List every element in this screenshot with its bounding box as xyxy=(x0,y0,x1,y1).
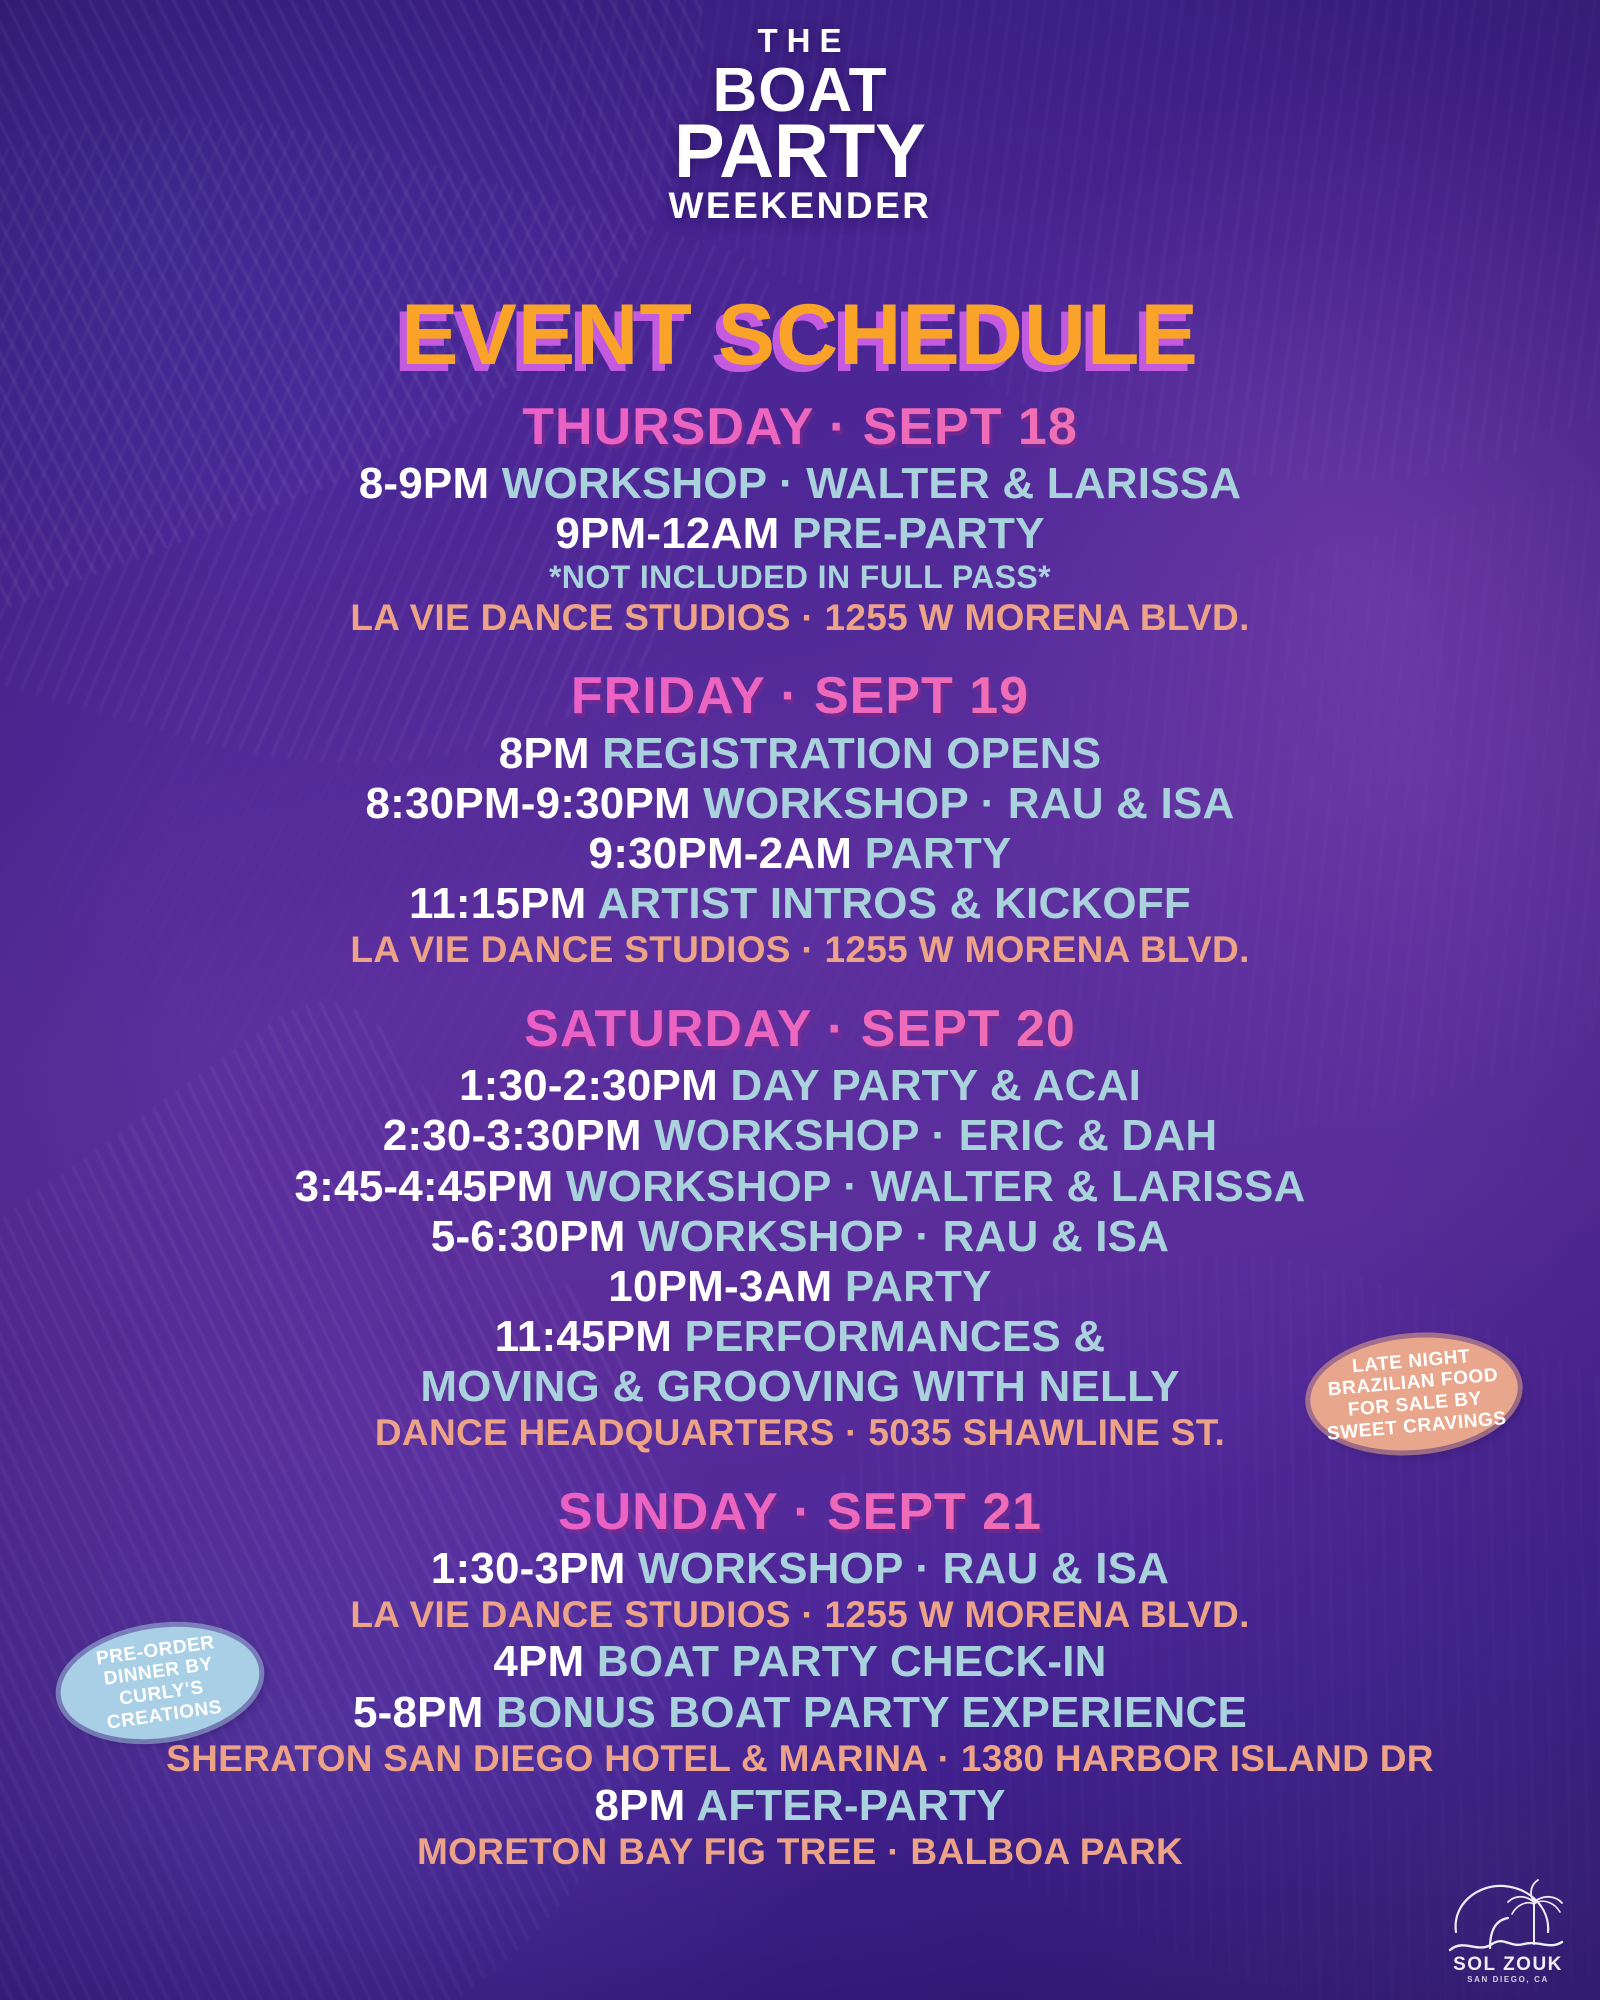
schedule-activity: DAY PARTY & ACAI xyxy=(730,1061,1141,1110)
brand-logo: THE BOAT PARTY WEEKENDER xyxy=(0,24,1600,224)
schedule-line: 1:30-2:30PM DAY PARTY & ACAI xyxy=(0,1061,1600,1111)
day-title-thursday: THURSDAY · SEPT 18 xyxy=(0,400,1600,455)
schedule-time: 1:30-2:30PM xyxy=(459,1061,730,1110)
event-schedule-poster: THE BOAT PARTY WEEKENDER EVENT SCHEDULE … xyxy=(0,0,1600,2000)
schedule-activity: PARTY xyxy=(865,829,1012,878)
schedule-time: 8PM xyxy=(499,729,603,778)
day-block-thursday: THURSDAY · SEPT 18 8-9PM WORKSHOP · WALT… xyxy=(0,400,1600,639)
schedule-line: 2:30-3:30PM WORKSHOP · ERIC & DAH xyxy=(0,1111,1600,1161)
logo-the-text: THE xyxy=(8,24,1600,57)
schedule-time: 9:30PM-2AM xyxy=(589,829,865,878)
sol-zouk-logo-mark: SOL ZOUK SAN DIEGO, CA xyxy=(1438,1870,1578,1988)
schedule-activity: BOAT PARTY CHECK-IN xyxy=(597,1637,1107,1686)
day-block-friday: FRIDAY · SEPT 19 8PM REGISTRATION OPENS … xyxy=(0,669,1600,972)
schedule-activity: WORKSHOP · WALTER & LARISSA xyxy=(502,459,1242,508)
schedule-activity: PERFORMANCES & xyxy=(685,1312,1106,1361)
schedule-activity: PARTY xyxy=(845,1262,992,1311)
schedule-line: 5-6:30PM WORKSHOP · RAU & ISA xyxy=(0,1212,1600,1262)
schedule-time: 5-6:30PM xyxy=(431,1212,638,1261)
schedule-time: 8-9PM xyxy=(359,459,502,508)
day-title-friday: FRIDAY · SEPT 19 xyxy=(0,669,1600,724)
schedule-note: *NOT INCLUDED IN FULL PASS* xyxy=(0,559,1600,596)
logo-weekender-text: WEEKENDER xyxy=(0,187,1600,224)
schedule-activity: REGISTRATION OPENS xyxy=(602,729,1101,778)
schedule-venue: MORETON BAY FIG TREE · BALBOA PARK xyxy=(0,1831,1600,1874)
schedule-time: 3:45-4:45PM xyxy=(295,1162,566,1211)
schedule-activity: WORKSHOP · RAU & ISA xyxy=(703,779,1234,828)
schedule-venue: LA VIE DANCE STUDIOS · 1255 W MORENA BLV… xyxy=(0,929,1600,972)
schedule-line: 11:15PM ARTIST INTROS & KICKOFF xyxy=(0,879,1600,929)
schedule-time: 5-8PM xyxy=(353,1688,496,1737)
schedule-activity: WORKSHOP · WALTER & LARISSA xyxy=(566,1162,1306,1211)
schedule-time: 11:45PM xyxy=(495,1312,685,1361)
schedule-activity: WORKSHOP · RAU & ISA xyxy=(638,1544,1169,1593)
sol-zouk-logo-sub: SAN DIEGO, CA xyxy=(1467,1975,1549,1984)
schedule-activity: WORKSHOP · RAU & ISA xyxy=(638,1212,1169,1261)
schedule-time: 11:15PM xyxy=(409,879,597,928)
sol-zouk-logo: SOL ZOUK SAN DIEGO, CA xyxy=(1438,1870,1578,1988)
schedule-venue: SHERATON SAN DIEGO HOTEL & MARINA · 1380… xyxy=(0,1738,1600,1781)
schedule-activity: PRE-PARTY xyxy=(792,509,1045,558)
schedule-time: 8PM xyxy=(594,1781,696,1830)
schedule-time: 4PM xyxy=(493,1637,597,1686)
schedule-line: 8-9PM WORKSHOP · WALTER & LARISSA xyxy=(0,459,1600,509)
schedule-line: 8:30PM-9:30PM WORKSHOP · RAU & ISA xyxy=(0,779,1600,829)
schedule-activity: MOVING & GROOVING WITH NELLY xyxy=(420,1362,1179,1411)
schedule-time: 1:30-3PM xyxy=(431,1544,638,1593)
schedule-line: 3:45-4:45PM WORKSHOP · WALTER & LARISSA xyxy=(0,1162,1600,1212)
schedule-line: 9PM-12AM PRE-PARTY xyxy=(0,509,1600,559)
schedule-line: 8PM REGISTRATION OPENS xyxy=(0,729,1600,779)
schedule-time: 8:30PM-9:30PM xyxy=(365,779,703,828)
day-title-sunday: SUNDAY · SEPT 21 xyxy=(0,1485,1600,1540)
schedule-venue: LA VIE DANCE STUDIOS · 1255 W MORENA BLV… xyxy=(0,597,1600,640)
page-title: EVENT SCHEDULE xyxy=(0,286,1600,385)
sol-zouk-logo-name: SOL ZOUK xyxy=(1453,1954,1563,1975)
schedule-activity: AFTER-PARTY xyxy=(696,1781,1005,1830)
schedule-time: 10PM-3AM xyxy=(608,1262,845,1311)
schedule-time: 2:30-3:30PM xyxy=(383,1111,654,1160)
schedule-line: 8PM AFTER-PARTY xyxy=(0,1781,1600,1831)
badge-late-night-food-label: LATE NIGHT BRAZILIAN FOOD FOR SALE BY SW… xyxy=(1307,1342,1522,1446)
schedule-activity: BONUS BOAT PARTY EXPERIENCE xyxy=(496,1688,1247,1737)
schedule-time: 9PM-12AM xyxy=(555,509,792,558)
schedule-line: 10PM-3AM PARTY xyxy=(0,1262,1600,1312)
schedule-activity: WORKSHOP · ERIC & DAH xyxy=(654,1111,1217,1160)
schedule-activity: ARTIST INTROS & KICKOFF xyxy=(597,879,1191,928)
schedule-line: 1:30-3PM WORKSHOP · RAU & ISA xyxy=(0,1544,1600,1594)
logo-party-text: PARTY xyxy=(0,114,1600,190)
day-title-saturday: SATURDAY · SEPT 20 xyxy=(0,1002,1600,1057)
schedule-line: 9:30PM-2AM PARTY xyxy=(0,829,1600,879)
